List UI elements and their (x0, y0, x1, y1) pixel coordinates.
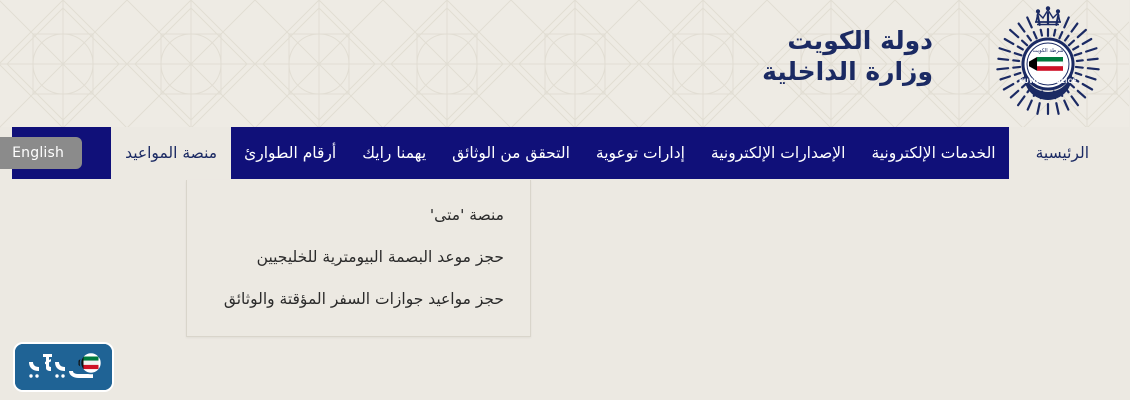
nav-item-your-opinion-matters-label: يهمنا رايك (363, 144, 427, 162)
nav-item-awareness-departments-label: إدارات توعوية (597, 144, 686, 162)
brand-line-country: دولة الكويت (763, 26, 934, 57)
site-header: دولة الكويت وزارة الداخلية (0, 0, 1130, 127)
nav-item-home-label: الرئيسية (1037, 144, 1090, 162)
svg-text:KUWAIT POLICE: KUWAIT POLICE (1020, 78, 1078, 85)
header-pattern-decoration (0, 0, 1130, 128)
dropdown-item-biometric-appointment-gcc[interactable]: حجز موعد البصمة البيومترية للخليجيين (188, 236, 531, 278)
nav-item-emergency-numbers-label: أرقام الطوارئ (245, 144, 337, 162)
nav-item-appointments-platform-label: منصة المواعيد (126, 144, 218, 162)
nav-item-home[interactable]: الرئيسية (1010, 127, 1117, 179)
nav-item-verify-documents[interactable]: التحقق من الوثائق (440, 127, 584, 179)
appointments-platform-dropdown[interactable]: منصة 'متى' حجز موعد البصمة البيومترية لل… (187, 180, 532, 337)
kuwait-police-emblem-icon: شرطة الكويت KUWAIT POLICE (990, 2, 1108, 120)
main-navigation[interactable]: الرئيسية الخدمات الإلكترونية الإصدارات ا… (13, 127, 1117, 179)
brand-line-ministry: وزارة الداخلية (763, 57, 934, 88)
nav-item-electronic-services-label: الخدمات الإلكترونية (872, 144, 996, 162)
page-root: دولة الكويت وزارة الداخلية (0, 0, 1130, 400)
nav-item-electronic-publications[interactable]: الإصدارات الإلكترونية (699, 127, 860, 179)
dropdown-item-temporary-passport-documents-appointment[interactable]: حجز مواعيد جوازات السفر المؤقتة والوثائق (188, 278, 531, 320)
nav-item-appointments-platform[interactable]: منصة المواعيد (112, 127, 232, 179)
nav-item-awareness-departments[interactable]: إدارات توعوية (584, 127, 699, 179)
language-toggle-button[interactable]: English (0, 137, 83, 169)
nav-item-electronic-publications-label: الإصدارات الإلكترونية (712, 144, 847, 162)
wiki-watermark-badge (14, 342, 115, 392)
nav-item-electronic-services[interactable]: الخدمات الإلكترونية (859, 127, 1009, 179)
nav-item-your-opinion-matters[interactable]: يهمنا رايك (350, 127, 440, 179)
ministry-brand-title: دولة الكويت وزارة الداخلية (763, 26, 934, 87)
dropdown-item-mata-platform[interactable]: منصة 'متى' (188, 194, 531, 236)
nav-item-emergency-numbers[interactable]: أرقام الطوارئ (232, 127, 350, 179)
nav-item-verify-documents-label: التحقق من الوثائق (453, 144, 571, 162)
svg-text:شرطة الكويت: شرطة الكويت (1034, 48, 1065, 54)
